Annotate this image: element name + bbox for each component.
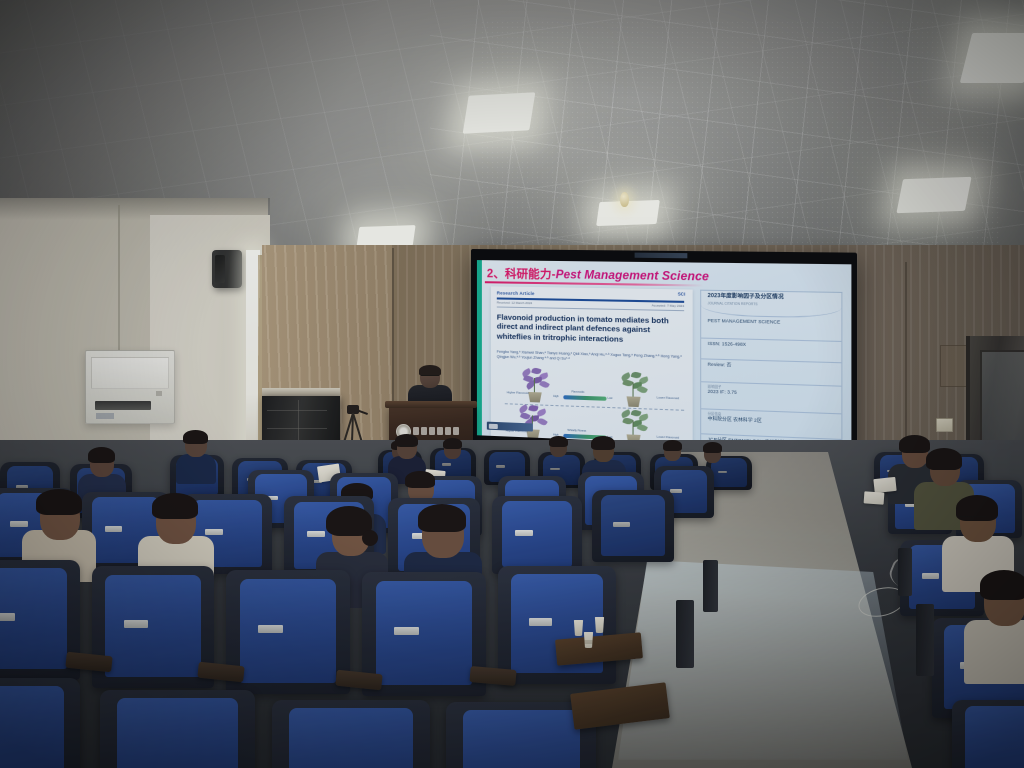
seat-pedestal bbox=[676, 600, 694, 668]
hair bbox=[980, 570, 1024, 600]
plant-stem bbox=[534, 378, 535, 393]
slide-canvas: 2、科研能力-Pest Management Science Research … bbox=[477, 260, 851, 451]
wiley-logo-icon bbox=[489, 423, 498, 428]
hair bbox=[88, 447, 115, 463]
plant-pot bbox=[527, 392, 543, 403]
seat-pedestal bbox=[898, 548, 912, 596]
rack-shelf-line bbox=[267, 410, 327, 411]
hair bbox=[591, 436, 615, 450]
figure-caption-top-left: Higher Flavonoid bbox=[507, 391, 529, 395]
slide-journal-name: Pest Management Science bbox=[556, 269, 709, 283]
rack-shelf-line bbox=[267, 428, 327, 429]
figure-arrow-top-label-right: Low bbox=[608, 397, 613, 400]
ceiling-light-1 bbox=[463, 92, 536, 133]
hair bbox=[703, 442, 722, 453]
torso bbox=[964, 620, 1024, 684]
hair bbox=[549, 436, 568, 447]
ac-brand-logo bbox=[96, 413, 114, 419]
seat[interactable] bbox=[0, 678, 80, 768]
info-row-journal: PEST MANAGEMENT SCIENCE bbox=[701, 316, 841, 342]
figure-arrow-top-title: Flavonoids bbox=[572, 390, 585, 393]
plant-pot bbox=[625, 396, 642, 407]
wall-speaker bbox=[212, 250, 242, 288]
glasses-icon bbox=[900, 450, 924, 455]
podium-nameplate-text bbox=[413, 426, 465, 436]
figure-arrow-top bbox=[563, 395, 606, 401]
glasses-icon bbox=[958, 516, 986, 521]
seat[interactable] bbox=[272, 700, 430, 768]
plant-stem bbox=[633, 382, 634, 397]
projection-screen[interactable]: 2、科研能力-Pest Management Science Research … bbox=[471, 249, 857, 460]
figure-arrow-top-label-left: High bbox=[553, 395, 558, 398]
journal-info-panel: 2023年度影响因子及分区情况 JOURNAL CITATION REPORTS… bbox=[700, 290, 842, 451]
slide-accent-bar bbox=[477, 260, 482, 435]
article-received-date: Received: 12 March 2024 bbox=[497, 300, 532, 305]
info-row-value: ISSN: 1526-498X bbox=[708, 341, 835, 351]
ac-vent bbox=[95, 401, 151, 410]
glasses-icon bbox=[398, 445, 416, 450]
seat[interactable] bbox=[100, 690, 255, 768]
hair bbox=[418, 504, 466, 532]
article-accepted-date: Accepted: 7 May 2024 bbox=[652, 303, 685, 308]
figure-arrow-bottom-title: Whitefly Fitness bbox=[567, 429, 586, 433]
seat-pedestal bbox=[703, 560, 718, 612]
screen-brand-badge bbox=[635, 253, 688, 259]
seat-pedestal bbox=[916, 604, 934, 676]
hair-bun bbox=[362, 530, 378, 546]
info-row-value: PEST MANAGEMENT SCIENCE bbox=[708, 318, 835, 327]
hair bbox=[443, 438, 462, 449]
figure-caption-top-right: Lower Flavonoid bbox=[657, 396, 682, 400]
article-title: Flavonoid production in tomato mediates … bbox=[497, 313, 689, 346]
hair bbox=[663, 440, 682, 451]
article-authors: Fengbo Yang,ᵃ Xianwei Shan,ᵃ Tianye Huan… bbox=[497, 350, 689, 366]
article-type-label: Research Article bbox=[497, 290, 535, 296]
ceiling-light-2 bbox=[960, 33, 1024, 83]
air-conditioner-unit bbox=[85, 350, 175, 424]
ac-indicator-icon bbox=[156, 391, 162, 396]
seat[interactable] bbox=[952, 700, 1024, 768]
cup-band bbox=[584, 640, 593, 644]
figure-plant-top-right bbox=[613, 371, 655, 407]
seat[interactable] bbox=[592, 490, 674, 562]
ceiling-light-3 bbox=[896, 177, 971, 213]
slide-section-number: 2、 bbox=[487, 268, 505, 280]
seat[interactable] bbox=[492, 496, 582, 574]
ac-front-panel bbox=[91, 357, 169, 389]
wall-mounted-frame bbox=[940, 345, 968, 387]
figure-plant-top-left bbox=[515, 367, 555, 403]
handout-paper bbox=[864, 491, 885, 504]
podium-top-surface bbox=[385, 401, 477, 408]
hair bbox=[152, 493, 198, 519]
speaker-grille-icon bbox=[215, 255, 225, 283]
hair bbox=[183, 430, 208, 444]
ceiling-bulb bbox=[620, 192, 629, 207]
article-figure: Higher Flavonoid bbox=[501, 367, 689, 447]
info-panel-header: 2023年度影响因子及分区情况 JOURNAL CITATION REPORTS bbox=[701, 291, 841, 319]
lecture-hall-photo: 2、科研能力-Pest Management Science Research … bbox=[0, 0, 1024, 768]
light-switch-plate[interactable] bbox=[936, 418, 953, 432]
hair bbox=[405, 471, 435, 488]
publisher-logo: SCI bbox=[678, 291, 685, 296]
slide-section-title-cn: 科研能力 bbox=[505, 268, 552, 281]
glasses-icon bbox=[421, 375, 439, 380]
seat[interactable] bbox=[226, 570, 350, 694]
torso bbox=[176, 454, 216, 484]
plant-stem bbox=[633, 420, 634, 435]
info-row-value: Review: 否 bbox=[708, 362, 835, 372]
aisle-light-pool bbox=[618, 560, 908, 760]
handout-paper bbox=[873, 477, 896, 493]
hair bbox=[926, 448, 962, 470]
hair bbox=[36, 489, 82, 515]
